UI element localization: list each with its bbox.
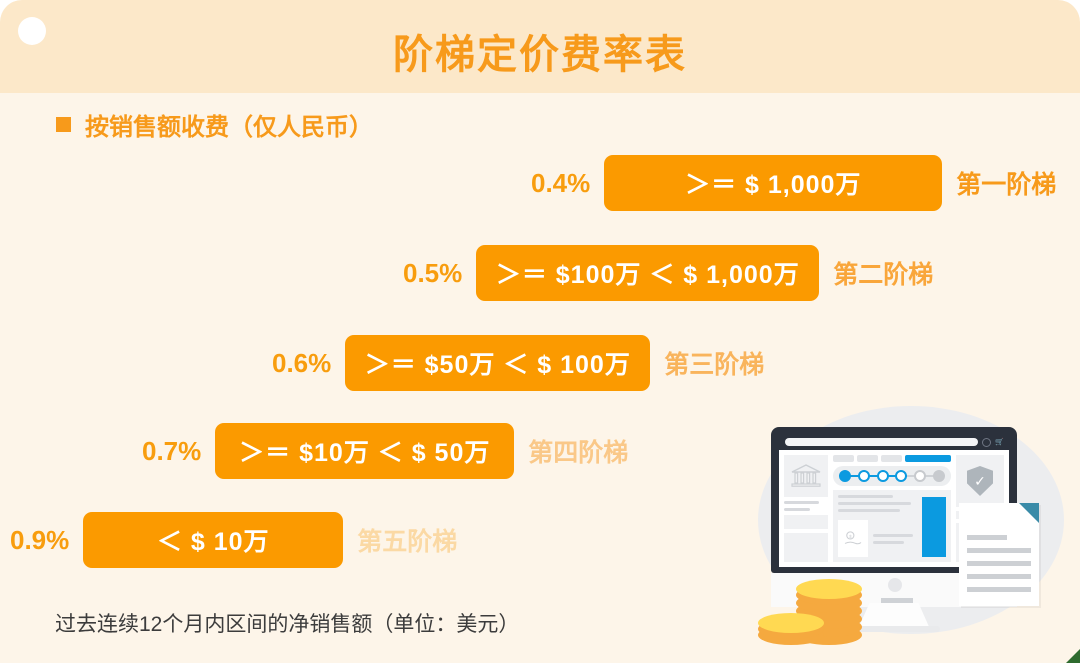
coin-top [758,613,824,633]
bank-building-icon [791,464,821,488]
tier-range-bar: ＜ $ 10万 [83,512,343,568]
placeholder-card [784,515,828,529]
tier-percent: 0.4% [531,168,590,199]
cart-icon: 🛒 [995,439,1003,446]
subtitle: 按销售额收费（仅人民币） [56,107,373,142]
dashboard-left-column [784,455,828,562]
browser-toolbar: 🛒 [779,434,1009,450]
stepper-dot [914,470,926,482]
stepper-dot [877,470,889,482]
placeholder-line [838,502,911,505]
document-line [967,587,1031,592]
shield-check-icon: ✓ [967,466,993,496]
placeholder-line [838,509,900,512]
tier-percent: 0.6% [272,348,331,379]
tab-chip-active[interactable] [905,455,951,462]
document-fold-corner [1019,503,1039,523]
security-card: ✓ [956,455,1004,507]
bank-card [784,455,828,497]
tier-range-bar: ＞＝ $10万 ＜ $ 50万 [215,423,514,479]
tab-chip[interactable] [857,455,878,462]
monitor-neck-dot [888,578,902,592]
document-line [967,561,1031,566]
document-line [967,548,1031,553]
search-icon [982,438,991,447]
placeholder-line [873,534,913,537]
footnote: 过去连续12个月内区间的净销售额（单位：美元） [55,608,519,638]
document-icon [959,503,1039,606]
tier-percent: 0.5% [403,258,462,289]
pricing-tier-poster: 阶梯定价费率表 按销售额收费（仅人民币） 0.4% ＞＝ $ 1,000万 第一… [0,0,1080,663]
coin-stack-icon [758,573,878,653]
tier-range-bar: ＞＝ $100万 ＜ $ 1,000万 [476,245,819,301]
tier-row: 0.7% ＞＝ $10万 ＜ $ 50万 第四阶梯 [142,423,628,479]
tier-percent: 0.9% [10,525,69,556]
placeholder-card [784,533,828,562]
search-bar [785,438,978,446]
subtitle-label: 按销售额收费（仅人民币） [85,107,373,142]
square-bullet-icon [56,117,71,132]
svg-text:$: $ [849,533,852,538]
tier-row: 0.6% ＞＝ $50万 ＜ $ 100万 第三阶梯 [272,335,764,391]
tab-chip[interactable] [833,455,854,462]
progress-stepper-icon [833,466,951,486]
tier-range-bar: ＞＝ $ 1,000万 [604,155,942,211]
bar-chart-icon [922,497,946,557]
money-hand-icon: $ [843,531,863,547]
dashboard-main-column: $ [833,455,951,562]
chart-text-lines: $ [838,495,917,557]
tier-name: 第一阶梯 [956,165,1056,201]
tier-name: 第二阶梯 [833,255,933,291]
tier-name: 第五阶梯 [357,522,457,558]
tier-name: 第三阶梯 [664,345,764,381]
placeholder-line [838,495,893,498]
tab-chip[interactable] [881,455,902,462]
coin-top [796,579,862,599]
placeholder-line [784,508,810,511]
tier-range-bar: ＞＝ $50万 ＜ $ 100万 [345,335,650,391]
document-line [967,535,1007,540]
tier-row: 0.5% ＞＝ $100万 ＜ $ 1,000万 第二阶梯 [403,245,933,301]
stepper-dot [858,470,870,482]
placeholder-line [873,541,904,544]
placeholder-line [784,501,819,504]
tier-row: 0.4% ＞＝ $ 1,000万 第一阶梯 [531,155,1056,211]
tab-strip [833,455,951,462]
stepper-dot [933,470,945,482]
corner-decoration [1066,649,1080,663]
document-line [967,574,1031,579]
tier-name: 第四阶梯 [528,433,628,469]
tier-row: 0.9% ＜ $ 10万 第五阶梯 [10,512,457,568]
tier-percent: 0.7% [142,436,201,467]
stepper-dot [839,470,851,482]
finance-dashboard-illustration: 🛒 [740,398,1080,663]
page-title: 阶梯定价费率表 [0,22,1080,80]
stepper-dot [895,470,907,482]
chart-card: $ [833,490,951,562]
